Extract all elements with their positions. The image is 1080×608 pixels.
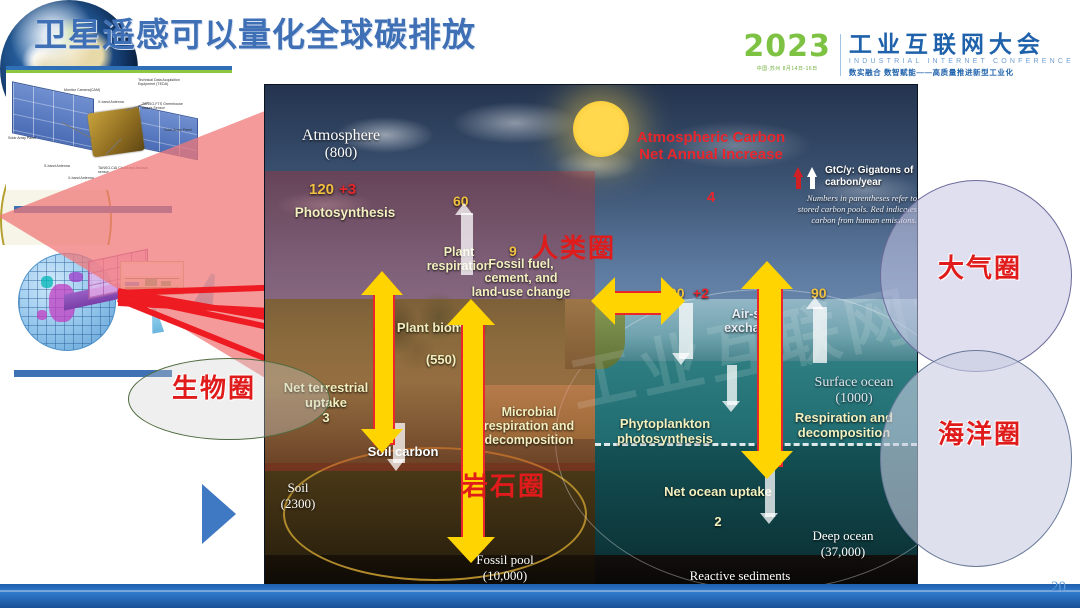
reactive-sediments-label: Reactive sediments bbox=[645, 569, 835, 583]
figure-legend: GtC/y: Gigatons of carbon/year Numbers i… bbox=[793, 165, 917, 226]
satellite-label-3: TANSO-FTS Greenhouse Gases Sensor bbox=[142, 102, 192, 111]
microbial-label: Microbial respiration and decomposition bbox=[475, 405, 583, 447]
slide-canvas: 卫星遥感可以量化全球碳排放 2023 中国·苏州 8月14日-16日 工业互联网… bbox=[0, 0, 1080, 608]
legend-header: GtC/y: Gigatons of carbon/year bbox=[825, 165, 917, 189]
logo-slogan: 数实融合 数智赋能——高质量推进新型工业化 bbox=[849, 67, 1074, 78]
hydrosphere-sphere-label: 海洋圈 bbox=[938, 414, 1022, 451]
deep-ocean-label: Deep ocean bbox=[783, 529, 903, 543]
photosynthesis-flux: 120 bbox=[309, 181, 334, 198]
logo-name-block: 工业互联网大会 INDUSTRIAL INTERNET CONFERENCE 数… bbox=[849, 32, 1074, 78]
plant-respiration-arrow-icon bbox=[461, 213, 473, 275]
photosynthesis-flux-red: +3 bbox=[339, 181, 356, 198]
atmosphere-sphere-label: 大气圈 bbox=[938, 248, 1022, 285]
logo-en-name: INDUSTRIAL INTERNET CONFERENCE bbox=[849, 58, 1074, 65]
logo-year-subtitle: 中国·苏州 8月14日-16日 bbox=[743, 65, 831, 72]
anthroposphere-sphere-label: 人类圈 bbox=[532, 228, 616, 265]
fossil-pool-value: (10,000) bbox=[445, 569, 565, 583]
phyto-sink-arrow-icon bbox=[727, 365, 737, 405]
surface-ocean-label: Surface ocean bbox=[793, 375, 915, 391]
soil-pool: (2300) bbox=[265, 497, 331, 511]
play-triangle-icon bbox=[202, 484, 236, 544]
atmosphere-pool: (800) bbox=[267, 145, 415, 162]
page-title: 卫星遥感可以量化全球碳排放 bbox=[34, 8, 476, 56]
logo-year-block: 2023 中国·苏州 8月14日-16日 bbox=[743, 32, 831, 72]
net-increase-value: 4 bbox=[633, 189, 789, 206]
net-increase-label: Atmospheric Carbon Net Annual Increase bbox=[633, 129, 789, 164]
air-sea-out-arrow-icon bbox=[813, 307, 827, 363]
satellite-label-6: S-band Antenna bbox=[44, 164, 86, 168]
air-sea-label: Air-sea exchange bbox=[709, 307, 797, 335]
satellite-accent-line bbox=[6, 70, 232, 73]
satellite-label-1: Technical Data Acquisition Equipment (TE… bbox=[138, 78, 188, 87]
photosynthesis-label: Photosynthesis bbox=[279, 205, 411, 220]
net-ocean-label: Net ocean uptake bbox=[663, 485, 773, 500]
satellite-label-4: Solar Array Panel bbox=[164, 128, 210, 132]
satellite-label-2: X-band Antenna bbox=[98, 100, 140, 104]
satellite-body-icon bbox=[87, 107, 145, 158]
logo-cn-name: 工业互联网大会 bbox=[849, 32, 1074, 57]
soil-label: Soil bbox=[265, 481, 331, 495]
conference-logo: 2023 中国·苏州 8月14日-16日 工业互联网大会 INDUSTRIAL … bbox=[743, 32, 1074, 84]
satellite-label-5: Solar Array Panel bbox=[8, 136, 50, 140]
phytoplankton-label: Phytoplankton photosynthesis bbox=[607, 417, 723, 446]
hydrosphere-sphere bbox=[880, 350, 1072, 567]
footer-band bbox=[0, 584, 1080, 608]
net-ocean-value: 2 bbox=[663, 515, 773, 530]
atmosphere-label: Atmosphere bbox=[267, 127, 415, 145]
lithosphere-sphere-label: 岩石圈 bbox=[462, 466, 546, 503]
biosphere-sphere-label: 生物圈 bbox=[172, 368, 256, 405]
page-number: 20 bbox=[1051, 579, 1066, 596]
deep-ocean-pool: (37,000) bbox=[783, 545, 903, 559]
air-sea-flux-in-red: +2 bbox=[693, 285, 709, 301]
logo-year: 2023 bbox=[743, 32, 831, 62]
satellite-label-0: Monitor Camera(CAM) bbox=[64, 88, 112, 92]
sun-icon bbox=[573, 101, 629, 157]
logo-divider bbox=[840, 34, 841, 76]
carbon-cycle-figure: 工业互联网大会 GtC/y: Gigatons of carbon/year N… bbox=[264, 84, 918, 594]
